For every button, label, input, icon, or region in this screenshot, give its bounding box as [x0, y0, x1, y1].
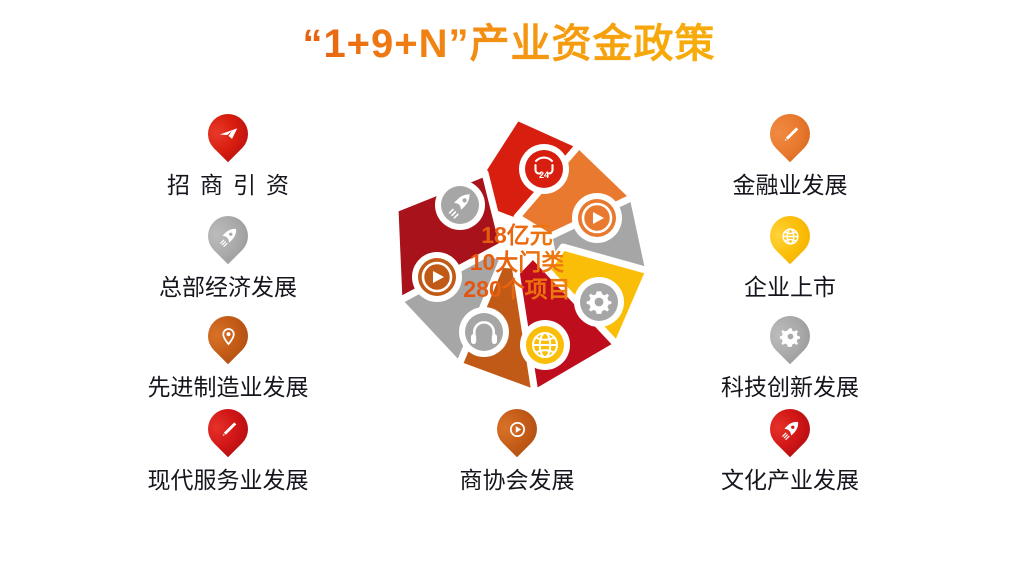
label-caption: 科技创新发展 [670, 368, 910, 402]
node-headphones [459, 307, 509, 357]
pin-wrap [108, 405, 348, 457]
label-caption: 总部经济发展 [108, 268, 348, 302]
label-caption: 金融业发展 [670, 166, 910, 200]
map-pin [770, 409, 810, 457]
label-caption: 商协会发展 [397, 461, 637, 495]
play-circle-icon [497, 409, 537, 449]
pin-wrap [108, 110, 348, 162]
support-24h-label: 24 [539, 170, 549, 180]
gear-icon [770, 316, 810, 356]
label-item-wenhua-chanye[interactable]: 文化产业发展 [670, 405, 910, 495]
node-gear-right [574, 277, 624, 327]
map-pin [770, 216, 810, 264]
label-item-xiandai-fuwuye[interactable]: 现代服务业发展 [108, 405, 348, 495]
rocket-icon [770, 409, 810, 449]
label-item-jinrongye[interactable]: 金融业发展 [670, 110, 910, 200]
pin-wrap [108, 212, 348, 264]
node-play-topright [572, 193, 622, 243]
pinwheel-diagram: 24 [367, 105, 667, 405]
label-caption: 企业上市 [670, 268, 910, 302]
map-pin [497, 409, 537, 457]
map-pin [208, 316, 248, 364]
map-pin [770, 114, 810, 162]
label-item-keji-chuangxin[interactable]: 科技创新发展 [670, 312, 910, 402]
pin-wrap [108, 312, 348, 364]
label-item-xianjin-zhizao[interactable]: 先进制造业发展 [108, 312, 348, 402]
globe-icon [770, 216, 810, 256]
node-globe-bottom [520, 320, 570, 370]
node-play-left [412, 252, 462, 302]
page-title: “1+9+N”产业资金政策 [0, 16, 1018, 72]
label-item-zongbu-jingji[interactable]: 总部经济发展 [108, 212, 348, 302]
gear-icon [587, 291, 612, 313]
label-caption: 文化产业发展 [670, 461, 910, 495]
pin-wrap [670, 405, 910, 457]
label-caption: 先进制造业发展 [108, 368, 348, 402]
map-pin [770, 316, 810, 364]
pencil-icon [208, 409, 248, 449]
pencil-icon [770, 114, 810, 154]
pin-wrap [397, 405, 637, 457]
map-pin [208, 216, 248, 264]
label-caption: 现代服务业发展 [108, 461, 348, 495]
paper-plane-icon [208, 114, 248, 154]
map-pin [208, 409, 248, 457]
pin-wrap [670, 312, 910, 364]
map-pin [208, 114, 248, 162]
node-rocket-topleft [435, 180, 485, 230]
pin-wrap [670, 212, 910, 264]
label-caption: 招商引资 [108, 166, 348, 200]
rocket-icon [208, 216, 248, 256]
location-pin-icon [208, 316, 248, 356]
label-item-qiye-shangshi[interactable]: 企业上市 [670, 212, 910, 302]
node-support-24h: 24 [519, 144, 569, 194]
label-item-zhaoshang-yinzi[interactable]: 招商引资 [108, 110, 348, 200]
label-item-shangxiehui[interactable]: 商协会发展 [397, 405, 637, 495]
pin-wrap [670, 110, 910, 162]
